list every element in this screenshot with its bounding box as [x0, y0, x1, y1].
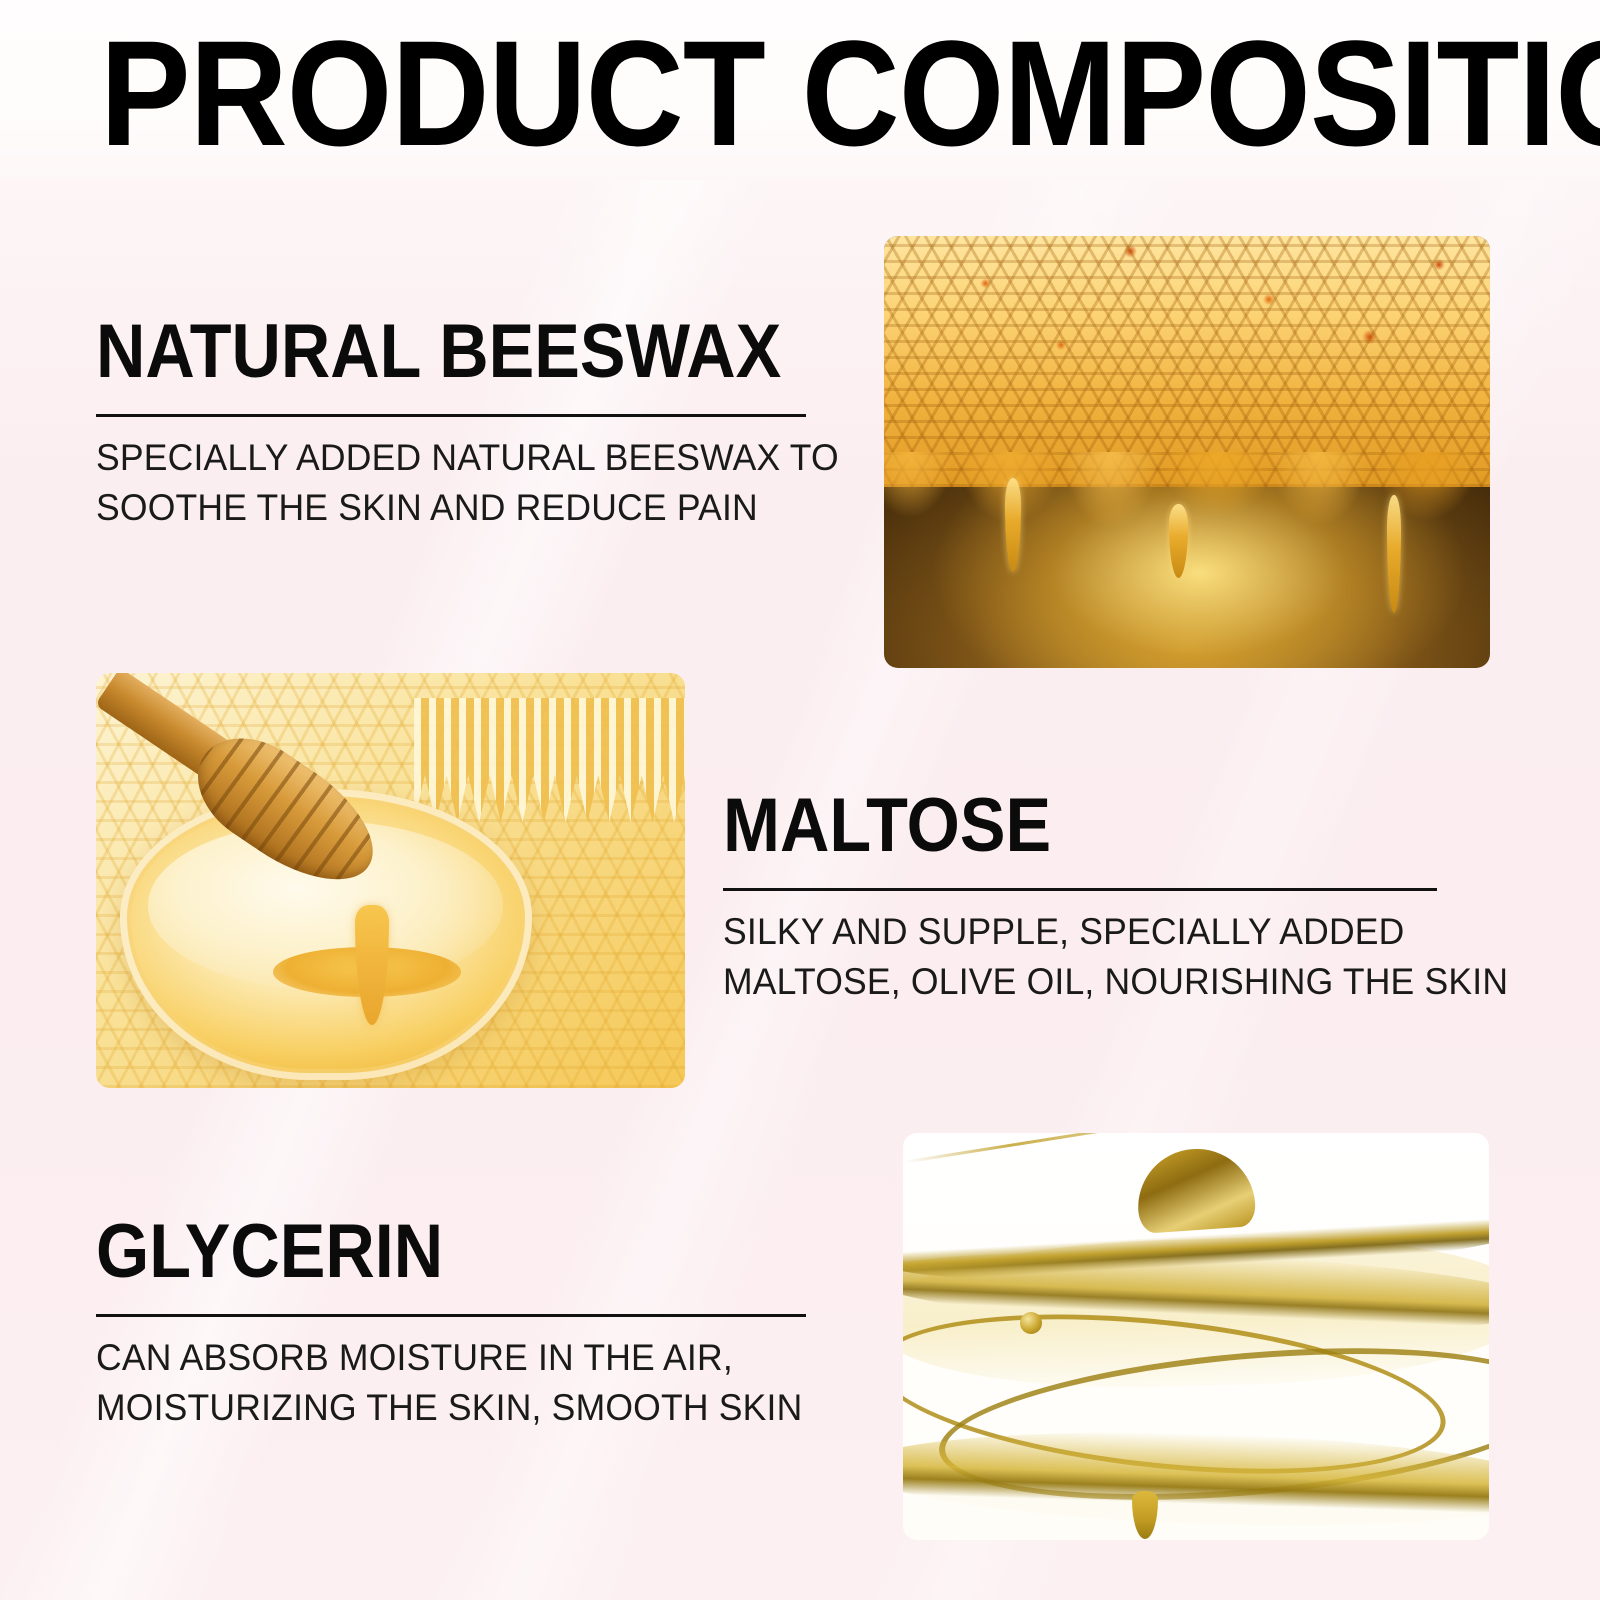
honey-drip	[1005, 478, 1021, 572]
page-title: PRODUCT COMPOSITION	[100, 18, 1385, 168]
ingredient-name: NATURAL BEESWAX	[96, 312, 780, 392]
description-line: CAN ABSORB MOISTURE IN THE AIR,	[96, 1333, 826, 1383]
oil-drip	[1132, 1491, 1158, 1539]
ingredient-block-beeswax: NATURAL BEESWAX SPECIALLY ADDED NATURAL …	[96, 312, 856, 533]
ingredient-name: MALTOSE	[723, 786, 1434, 866]
honeycomb-slab	[884, 236, 1490, 487]
product-composition-infographic: PRODUCT COMPOSITION	[0, 0, 1600, 1600]
ingredient-name: GLYCERIN	[96, 1212, 780, 1292]
ingredient-block-maltose: MALTOSE SILKY AND SUPPLE, SPECIALLY ADDE…	[723, 786, 1513, 1007]
ingredient-divider	[96, 1314, 806, 1317]
description-line: MALTOSE, OLIVE OIL, NOURISHING THE SKIN	[723, 957, 1481, 1007]
ingredient-block-glycerin: GLYCERIN CAN ABSORB MOISTURE IN THE AIR,…	[96, 1212, 856, 1433]
description-line: SILKY AND SUPPLE, SPECIALLY ADDED	[723, 907, 1481, 957]
description-line: SPECIALLY ADDED NATURAL BEESWAX TO	[96, 433, 826, 483]
oil-swirl-layer	[903, 1133, 1489, 1540]
golden-oil-swirl-photo	[903, 1133, 1489, 1540]
description-line: MOISTURIZING THE SKIN, SMOOTH SKIN	[96, 1383, 826, 1433]
ingredient-description: SILKY AND SUPPLE, SPECIALLY ADDED MALTOS…	[723, 907, 1481, 1007]
oil-peak	[1135, 1145, 1258, 1234]
ingredient-divider	[96, 414, 806, 417]
ingredient-description: CAN ABSORB MOISTURE IN THE AIR, MOISTURI…	[96, 1333, 826, 1433]
dripping-honeycomb-photo	[884, 236, 1490, 668]
ingredient-divider	[723, 888, 1437, 891]
honey-drip	[1387, 495, 1401, 613]
description-line: SOOTHE THE SKIN AND REDUCE PAIN	[96, 483, 826, 533]
honey-drip	[1169, 504, 1188, 578]
ingredient-description: SPECIALLY ADDED NATURAL BEESWAX TO SOOTH…	[96, 433, 826, 533]
honey-dipper-bowl-photo	[96, 673, 685, 1088]
